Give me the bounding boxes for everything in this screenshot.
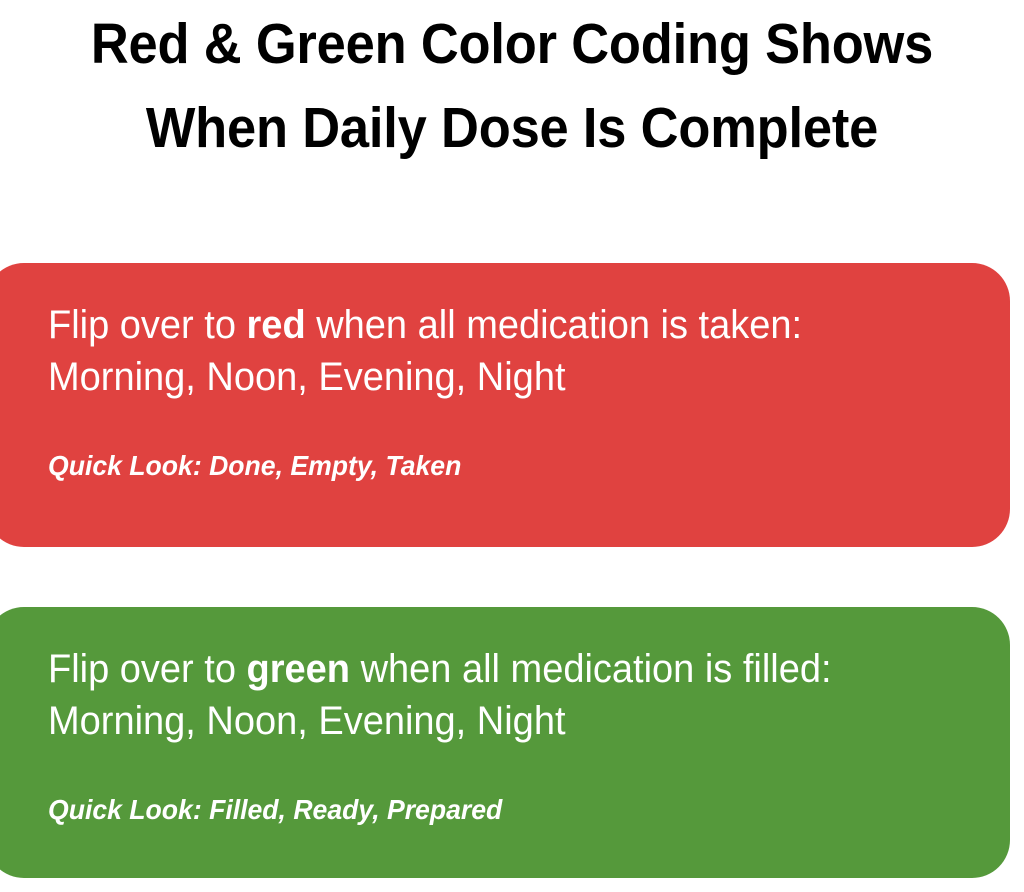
red-card-quick-look: Quick Look: Done, Empty, Taken [48,449,461,483]
green-card-main-prefix: Flip over to [48,647,247,691]
red-card-main-line2: Morning, Noon, Evening, Night [48,351,802,403]
green-card-main-emphasis: green [247,647,350,691]
red-card-content: Flip over to red when all medication is … [48,263,970,547]
red-card-main-text: Flip over to red when all medication is … [48,299,802,403]
page-title-line-2: When Daily Dose Is Complete [41,86,983,170]
page-title: Red & Green Color Coding Shows When Dail… [0,0,1024,170]
page-title-line-1: Red & Green Color Coding Shows [41,2,983,86]
red-card-main-emphasis: red [247,303,306,347]
green-card-content: Flip over to green when all medication i… [48,607,970,878]
green-card-main-suffix: when all medication is filled: [350,647,832,691]
red-card-main-suffix: when all medication is taken: [306,303,802,347]
green-card-main-line2: Morning, Noon, Evening, Night [48,695,832,747]
green-status-card: Flip over to green when all medication i… [0,607,1010,878]
red-status-card: Flip over to red when all medication is … [0,263,1010,547]
green-card-quick-look: Quick Look: Filled, Ready, Prepared [48,793,502,827]
red-card-main-prefix: Flip over to [48,303,247,347]
green-card-main-text: Flip over to green when all medication i… [48,643,832,747]
